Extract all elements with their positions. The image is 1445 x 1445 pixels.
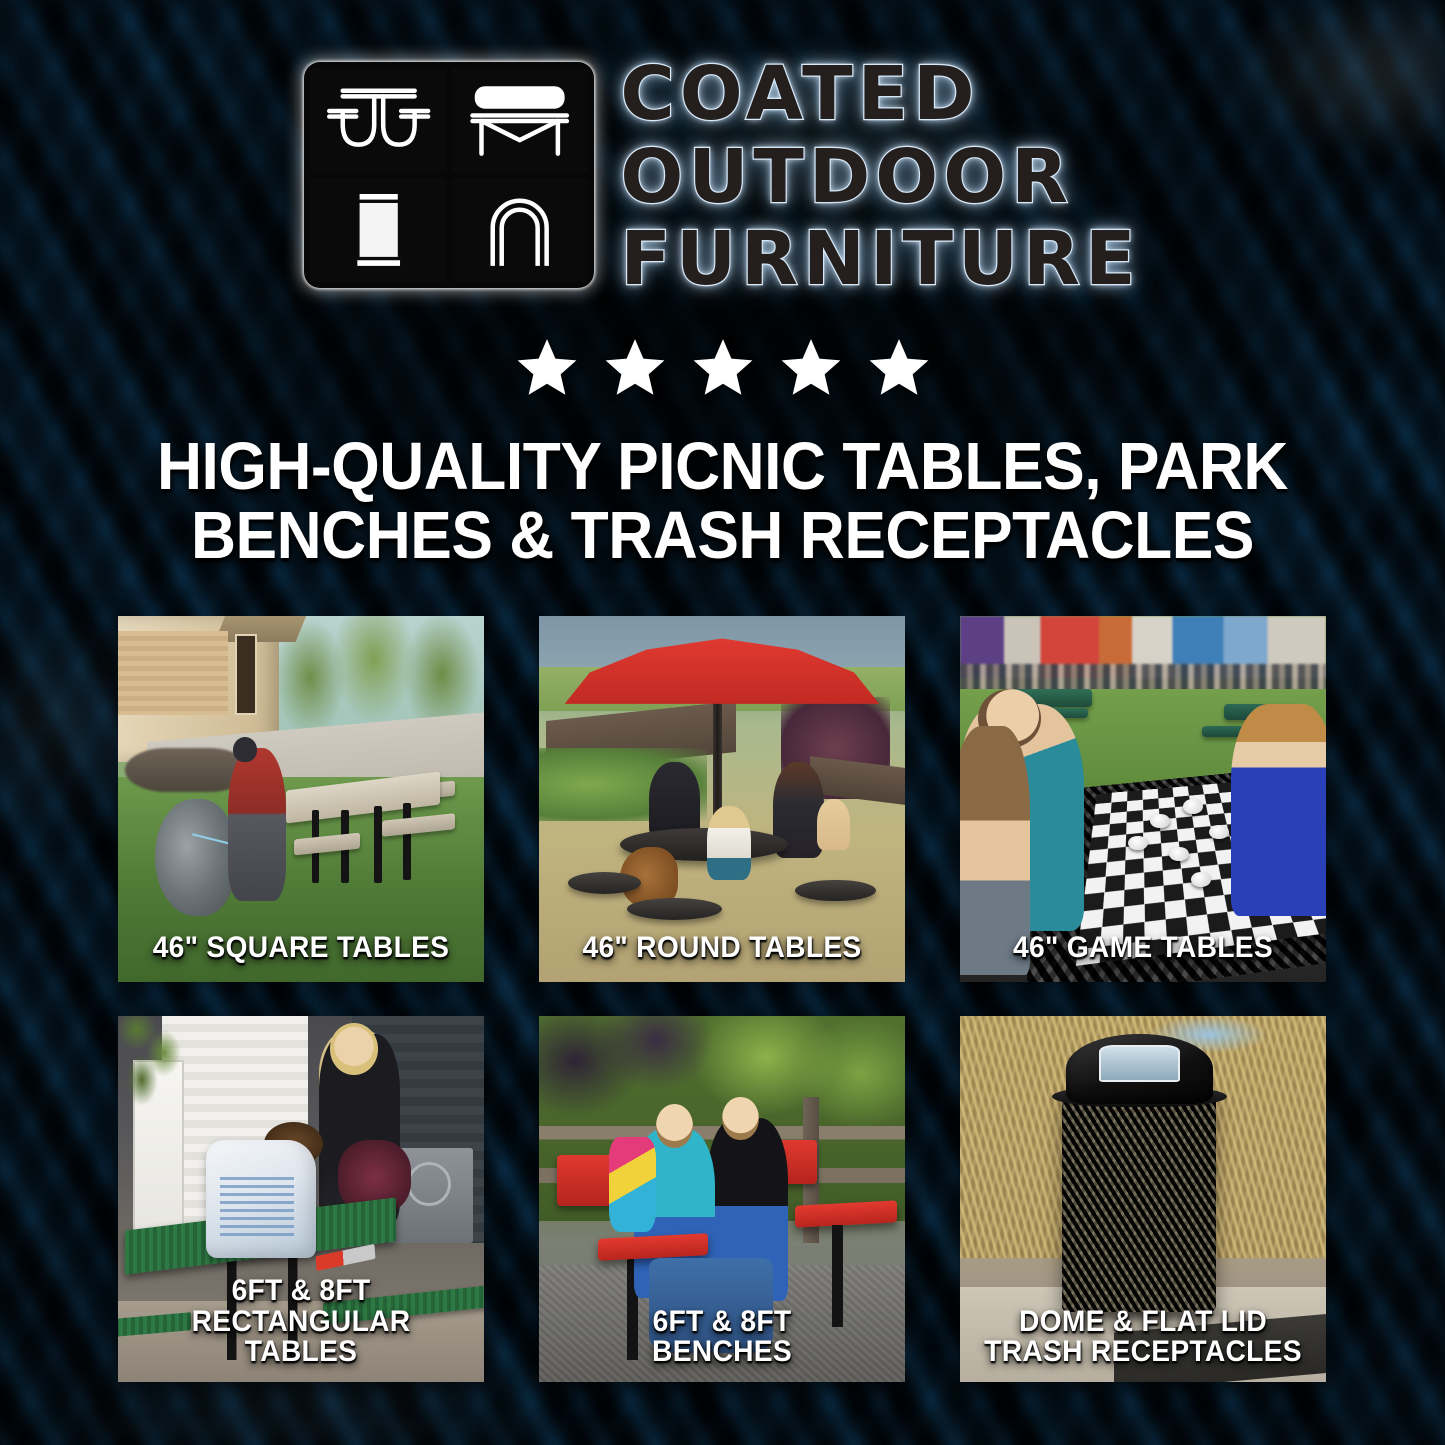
wordmark-line-3: FURNITURE [620, 223, 1140, 296]
caption-line-1: 6FT & 8FT [558, 1307, 887, 1338]
logo-mark [304, 62, 594, 288]
product-card-trash-receptacles[interactable]: DOME & FLAT LID TRASH RECEPTACLES [960, 1016, 1326, 1382]
star-rating [0, 336, 1445, 399]
caption-line-1: 46" ROUND TABLES [558, 933, 887, 964]
product-photo-round-tables [539, 616, 905, 982]
page-title: HIGH-QUALITY PICNIC TABLES, PARK BENCHES… [106, 432, 1338, 570]
picnic-table-icon [310, 68, 447, 173]
product-caption: 46" GAME TABLES [979, 933, 1308, 964]
brand-header: COATED OUTDOOR FURNITURE [0, 62, 1445, 296]
brand-wordmark: COATED OUTDOOR FURNITURE [620, 58, 1140, 296]
star-icon [690, 336, 756, 399]
star-icon [514, 336, 580, 399]
product-caption: 6FT & 8FT RECTANGULAR TABLES [137, 1276, 466, 1368]
star-icon [866, 336, 932, 399]
bench-icon [452, 68, 589, 173]
product-photo-game-tables [960, 616, 1326, 982]
product-card-benches[interactable]: 6FT & 8FT BENCHES [539, 1016, 905, 1382]
bike-rack-arch-icon [452, 178, 589, 283]
star-icon [602, 336, 668, 399]
product-card-square-tables[interactable]: 46" SQUARE TABLES [118, 616, 484, 982]
poster-content: COATED OUTDOOR FURNITURE HIGH-QUALITY PI… [0, 0, 1445, 1445]
caption-line-1: 46" GAME TABLES [979, 933, 1308, 964]
product-caption: 46" SQUARE TABLES [137, 933, 466, 964]
star-icon [778, 336, 844, 399]
headline-line-1: HIGH-QUALITY PICNIC TABLES, PARK [106, 432, 1338, 501]
product-grid: 46" SQUARE TABLES 46" ROUND TABLE [118, 616, 1326, 1382]
poster-canvas: COATED OUTDOOR FURNITURE HIGH-QUALITY PI… [0, 0, 1445, 1445]
product-caption: DOME & FLAT LID TRASH RECEPTACLES [979, 1307, 1308, 1368]
product-card-round-tables[interactable]: 46" ROUND TABLES [539, 616, 905, 982]
headline-line-2: BENCHES & TRASH RECEPTACLES [106, 501, 1338, 570]
caption-line-2: RECTANGULAR TABLES [137, 1307, 466, 1368]
caption-line-1: DOME & FLAT LID [979, 1307, 1308, 1338]
product-caption: 6FT & 8FT BENCHES [558, 1307, 887, 1368]
wordmark-line-1: COATED [620, 58, 979, 131]
product-card-rectangular-tables[interactable]: 6FT & 8FT RECTANGULAR TABLES [118, 1016, 484, 1382]
caption-line-1: 6FT & 8FT [137, 1276, 466, 1307]
caption-line-1: 46" SQUARE TABLES [137, 933, 466, 964]
product-photo-square-tables [118, 616, 484, 982]
trash-receptacle-icon [310, 178, 447, 283]
caption-line-2: BENCHES [558, 1337, 887, 1368]
caption-line-2: TRASH RECEPTACLES [979, 1337, 1308, 1368]
product-caption: 46" ROUND TABLES [558, 933, 887, 964]
product-card-game-tables[interactable]: 46" GAME TABLES [960, 616, 1326, 982]
wordmark-line-2: OUTDOOR [620, 141, 1073, 214]
